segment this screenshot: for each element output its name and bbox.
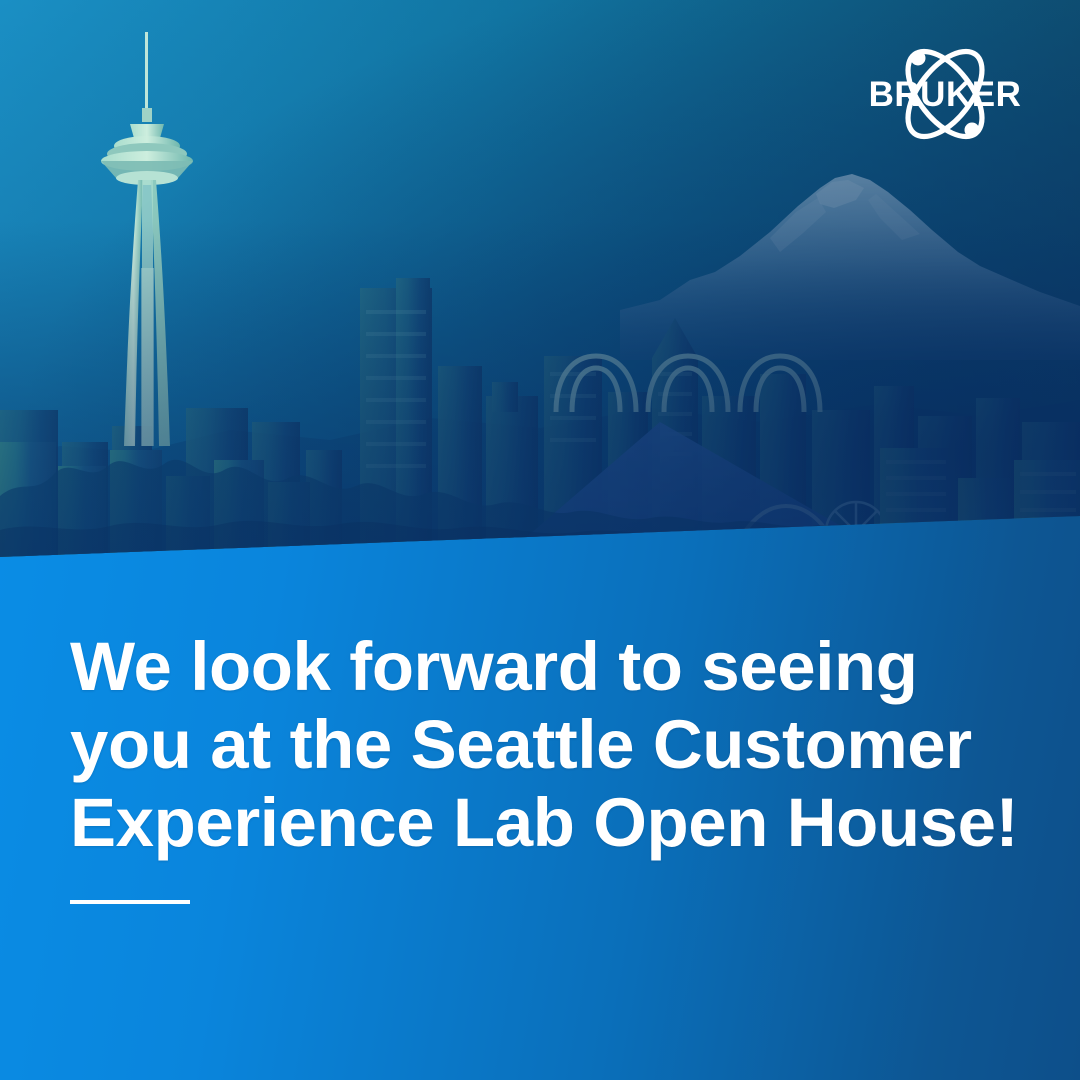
page-title: We look forward to seeing you at the Sea… xyxy=(70,628,970,862)
headline-line-3: Experience Lab Open House! xyxy=(70,784,970,862)
headline-line-1: We look forward to seeing xyxy=(70,628,970,706)
electron-dot-top xyxy=(911,51,926,66)
atom-icon: BRUKER xyxy=(845,38,1045,150)
social-post-canvas: BRUKER We look forward to seeing you at … xyxy=(0,0,1080,1080)
bruker-logo[interactable]: BRUKER xyxy=(845,38,1045,150)
accent-rule xyxy=(70,900,190,904)
electron-dot-bottom xyxy=(965,123,980,138)
bruker-wordmark: BRUKER xyxy=(869,75,1022,114)
headline-line-2: you at the Seattle Customer xyxy=(70,706,970,784)
